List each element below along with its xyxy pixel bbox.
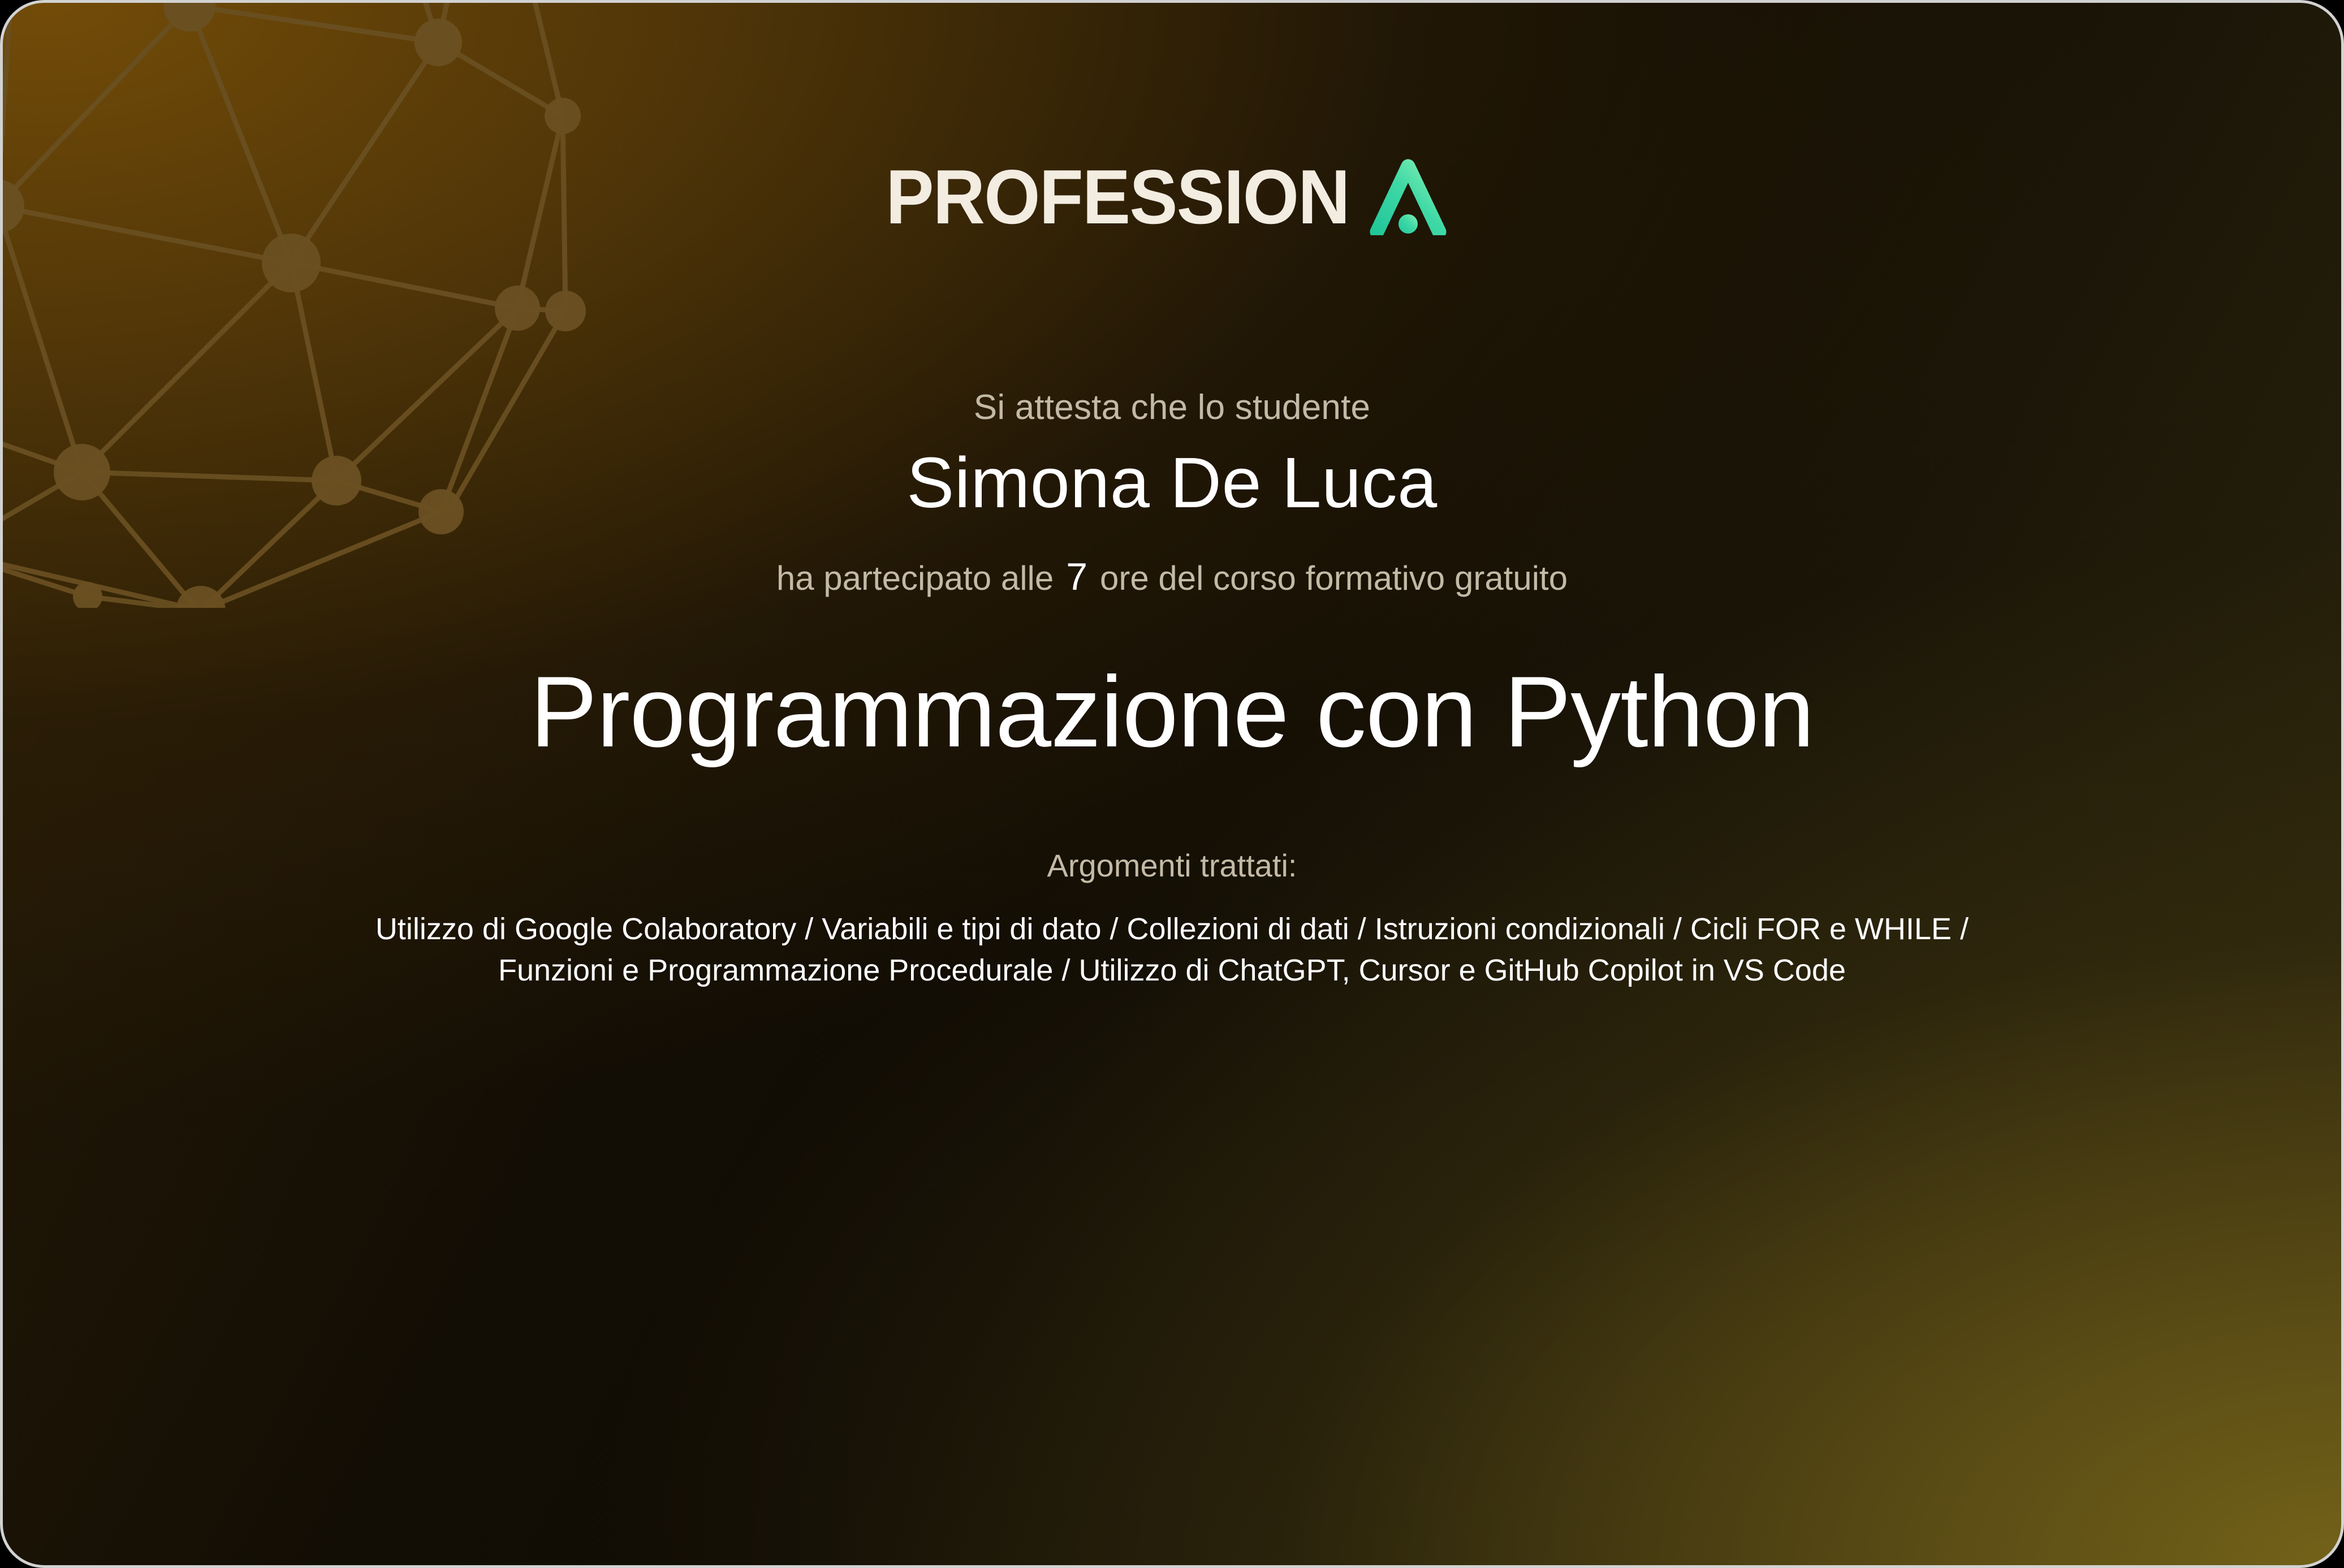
hours-line: ha partecipato alle 7 ore del corso form… [776,555,1568,599]
brand-logo: PROFESSION [856,154,1488,239]
attestation-line: Si attesta che lo studente [974,387,1370,427]
course-title: Programmazione con Python [530,655,1814,768]
hours-prefix: ha partecipato alle [776,559,1054,598]
certificate-card: PROFESSION Si attesta che lo studente Si… [0,0,2344,1568]
certificate-content: PROFESSION Si attesta che lo studente Si… [3,3,2341,1565]
student-name: Simona De Luca [906,442,1438,524]
hours-value: 7 [1066,555,1087,599]
topics-line: Funzioni e Programmazione Procedurale / … [154,950,2190,991]
topics-line: Utilizzo di Google Colaboratory / Variab… [154,909,2190,950]
topics-body: Utilizzo di Google Colaboratory / Variab… [154,909,2190,991]
brand-wordmark: PROFESSION [886,158,1349,235]
topics-label: Argomenti trattati: [1047,847,1297,884]
profession-ai-logo-icon [1369,158,1488,235]
hours-suffix: ore del corso formativo gratuito [1100,559,1568,598]
